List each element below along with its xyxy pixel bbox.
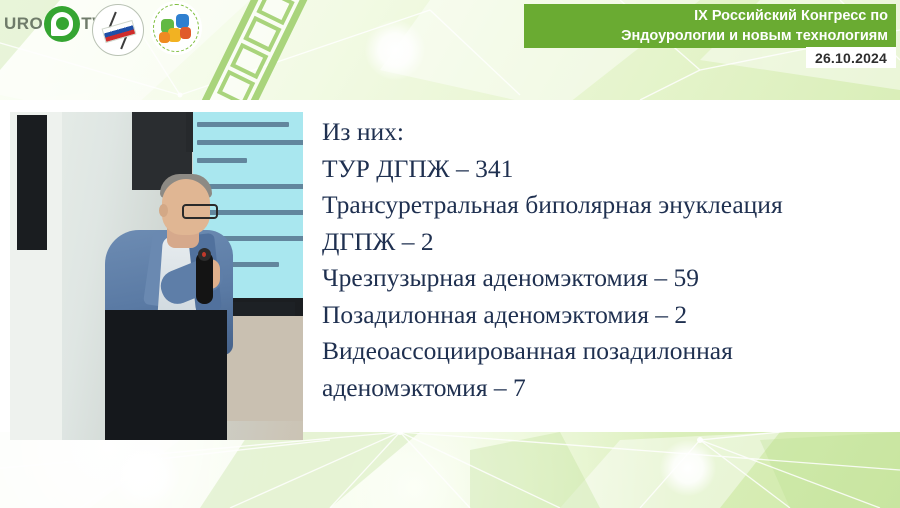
- slide-line-1: Из них:: [322, 114, 888, 151]
- logo-group: URO TV: [0, 0, 215, 60]
- presentation-stage: URO TV IX Российский Конгресс по Эндоуро…: [0, 0, 900, 508]
- background-glow-bottom-left: [110, 440, 180, 508]
- congress-title-line1: IX Российский Конгресс по: [694, 6, 888, 26]
- congress-title-line2: Эндоурологии и новым технологиям: [621, 26, 888, 46]
- slide-line-5: Чрезпузырная аденомэктомия – 59: [322, 260, 888, 297]
- congress-puzzle-logo-icon: [150, 1, 202, 55]
- russian-society-emblem-icon: [92, 4, 144, 56]
- uro-leaf-icon: [44, 6, 80, 42]
- podium: [105, 310, 227, 440]
- background-glow-bottom-right: [660, 440, 716, 496]
- speaker-video-feed[interactable]: [10, 112, 303, 440]
- slide-line-4: ДГПЖ – 2: [322, 224, 888, 261]
- uro-tv-prefix-label: URO: [4, 14, 43, 34]
- congress-date-badge: 26.10.2024: [806, 47, 896, 68]
- slide-line-7: Видеоассоциированная позадилонная: [322, 333, 888, 370]
- slide-line-6: Позадилонная аденомэктомия – 2: [322, 297, 888, 334]
- uro-tv-logo[interactable]: URO TV: [4, 6, 104, 42]
- slide-line-8: аденомэктомия – 7: [322, 370, 888, 407]
- glasses-icon: [182, 204, 218, 219]
- slide-text-block: Из них: ТУР ДГПЖ – 341 Трансуретральная …: [322, 114, 888, 406]
- congress-title-banner: IX Российский Конгресс по Эндоурологии и…: [524, 4, 896, 48]
- wall-speaker-icon: [17, 115, 47, 250]
- slide-line-2: ТУР ДГПЖ – 341: [322, 151, 888, 188]
- background-glow-top: [365, 20, 425, 80]
- slide-line-3: Трансуретральная биполярная энуклеация: [322, 187, 888, 224]
